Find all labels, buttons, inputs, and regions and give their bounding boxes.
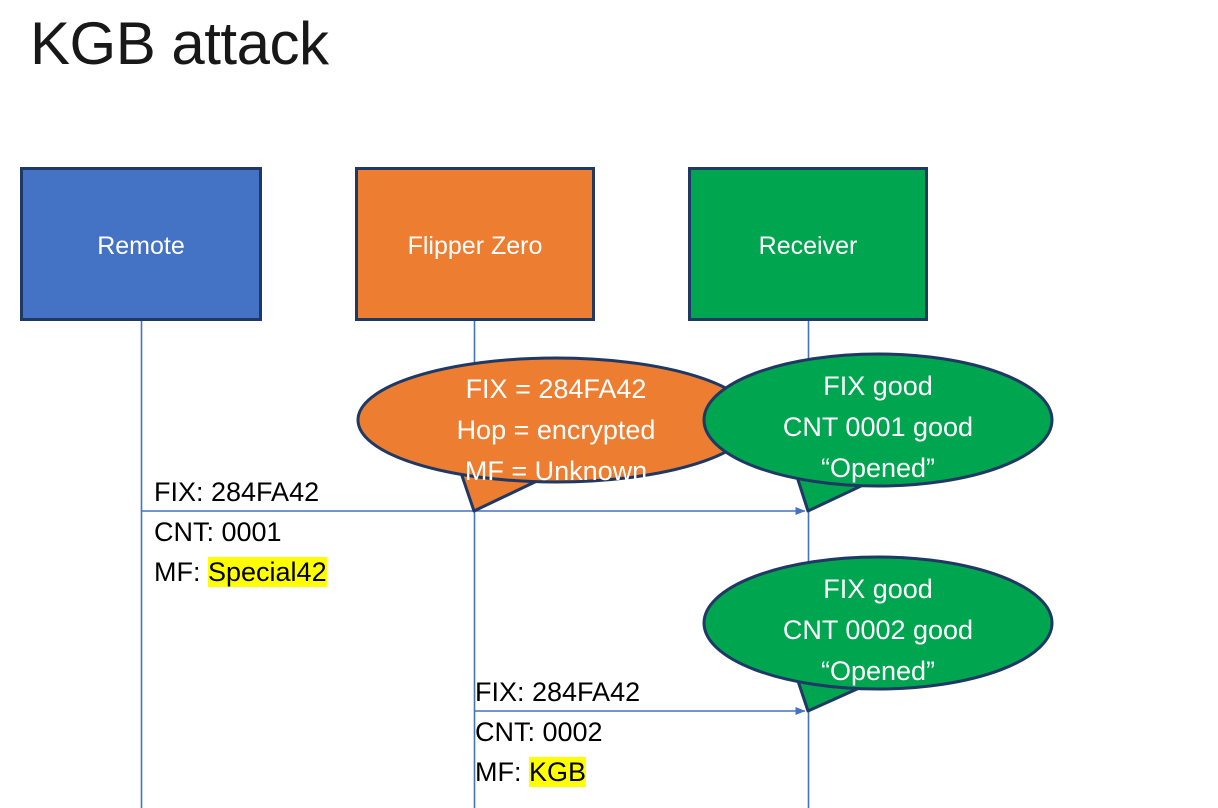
message-label-prefix: CNT: (154, 517, 222, 547)
message-label-value-highlighted: Special42 (208, 557, 327, 587)
bubble-line: CNT 0002 good (706, 610, 1050, 651)
bubble-line: FIX = 284FA42 (358, 369, 754, 410)
message-label-mf-remote-to-receiver: MF: Special42 (154, 552, 327, 592)
lane-label-remote: Remote (21, 232, 261, 261)
bubble-line: Hop = encrypted (358, 410, 754, 451)
bubble-receiver-ack-2-text: FIX good CNT 0002 good “Opened” (706, 569, 1050, 692)
bubble-line: “Opened” (706, 651, 1050, 692)
message-label-value-highlighted: KGB (529, 757, 586, 787)
lane-label-flipper: Flipper Zero (356, 232, 594, 261)
message-label-mf-flipper-to-receiver: MF: KGB (475, 752, 586, 792)
slide-canvas: KGB attack (0, 0, 1218, 808)
message-label-cnt-flipper-to-receiver: CNT: 0002 (475, 712, 603, 752)
bubble-line: FIX good (706, 366, 1050, 407)
message-label-value: 0002 (543, 717, 603, 747)
bubble-line: MF = Unknown (358, 451, 754, 492)
bubble-line: FIX good (706, 569, 1050, 610)
message-label-above-remote-to-receiver: FIX: 284FA42 (154, 472, 319, 512)
message-label-prefix: CNT: (475, 717, 543, 747)
message-label-above-flipper-to-receiver: FIX: 284FA42 (475, 672, 640, 712)
bubble-line: CNT 0001 good (706, 407, 1050, 448)
message-label-prefix: MF: (475, 757, 529, 787)
message-label-cnt-remote-to-receiver: CNT: 0001 (154, 512, 282, 552)
bubble-line: “Opened” (706, 448, 1050, 489)
message-label-value: 0001 (222, 517, 282, 547)
lane-label-receiver: Receiver (689, 232, 927, 261)
bubble-flipper-capture-text: FIX = 284FA42 Hop = encrypted MF = Unkno… (358, 369, 754, 492)
bubble-receiver-ack-1-text: FIX good CNT 0001 good “Opened” (706, 366, 1050, 489)
message-label-prefix: MF: (154, 557, 208, 587)
